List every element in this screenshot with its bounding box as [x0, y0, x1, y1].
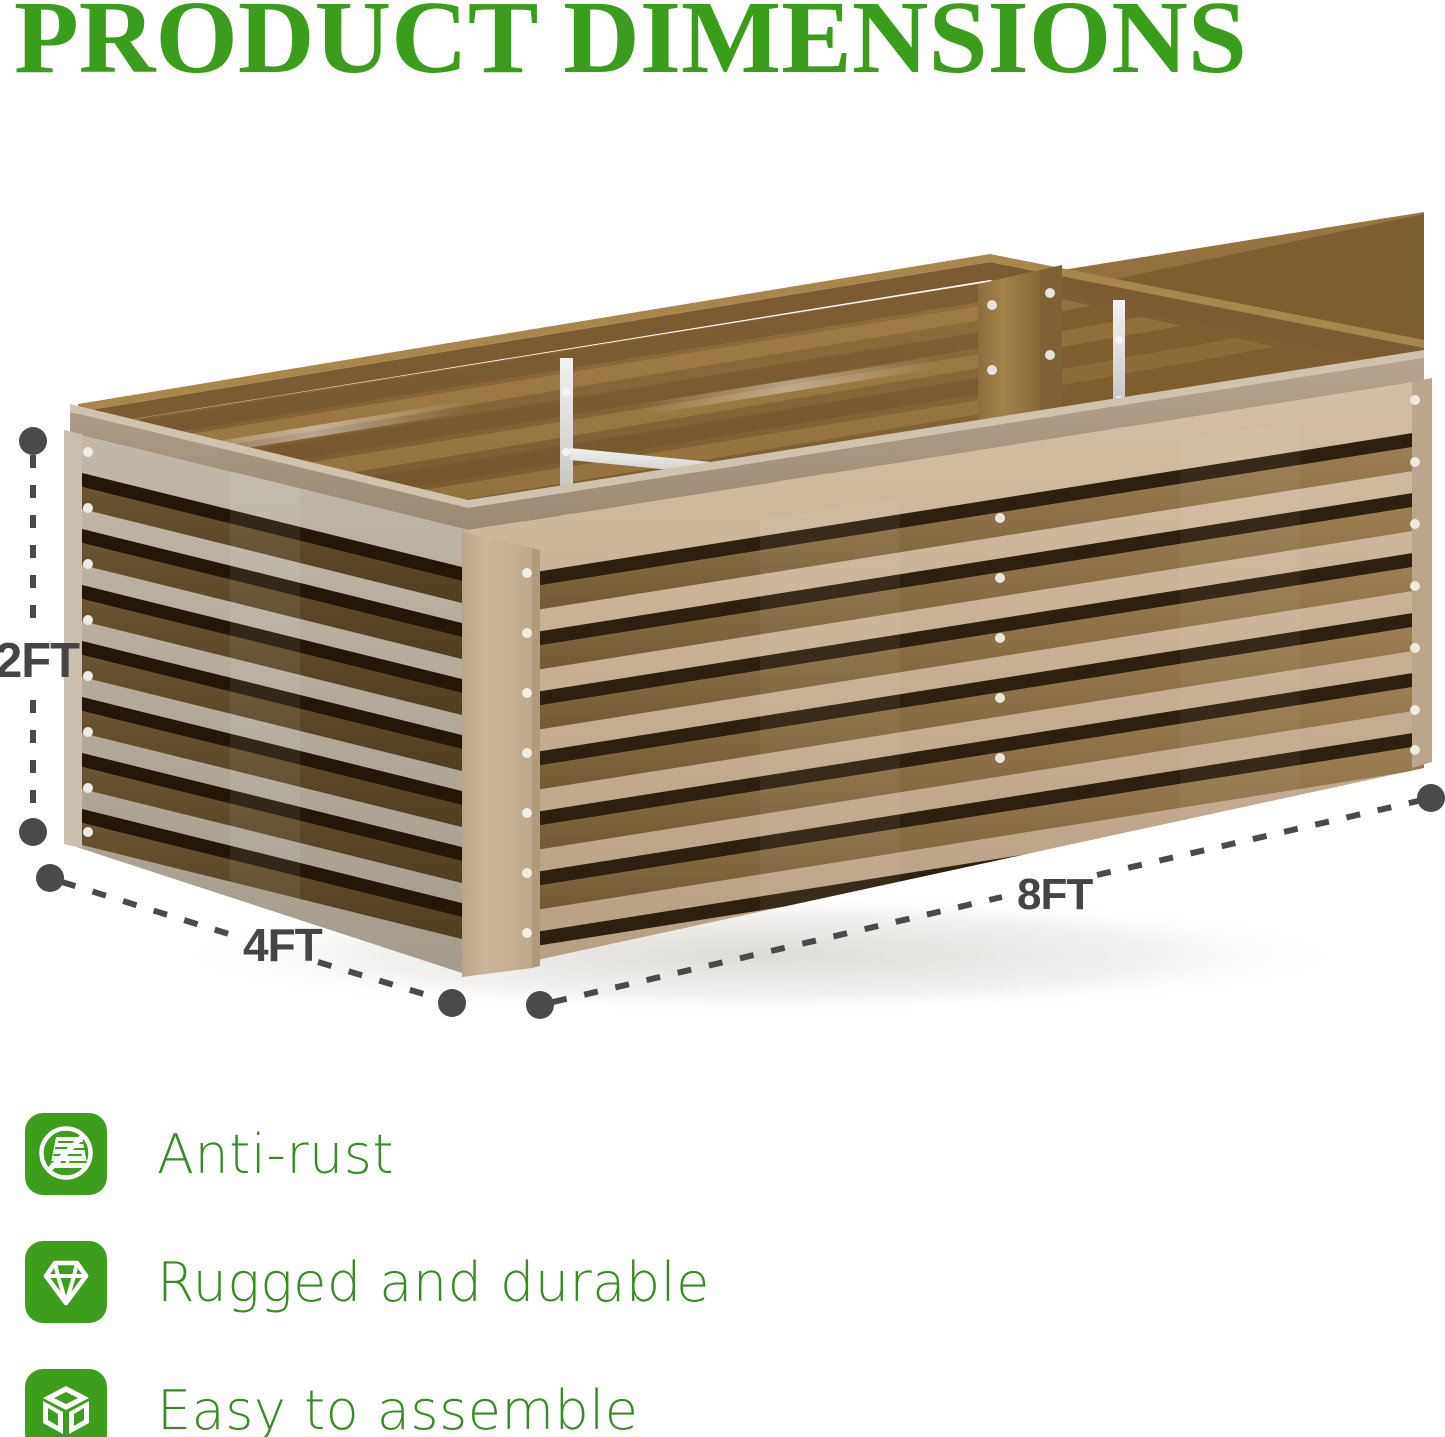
feature-label-anti-rust: Anti-rust — [157, 1123, 394, 1186]
cube-icon — [25, 1369, 107, 1437]
feature-list: Anti-rust Rugged and dur — [25, 1090, 925, 1437]
feature-item-anti-rust: Anti-rust — [25, 1090, 925, 1218]
dimension-label-height: 2FT — [0, 633, 79, 689]
diamond-icon — [25, 1241, 107, 1323]
corner-post-front-left — [462, 532, 540, 977]
product-illustration — [0, 0, 1445, 1060]
feature-label-assemble: Easy to assemble — [157, 1379, 639, 1437]
feature-item-rugged: Rugged and durable — [25, 1218, 925, 1346]
no-rust-icon — [25, 1113, 107, 1195]
corner-post-right — [1410, 378, 1432, 768]
feature-label-rugged: Rugged and durable — [157, 1251, 710, 1314]
dimension-label-length: 8FT — [1017, 870, 1092, 920]
feature-item-assemble: Easy to assemble — [25, 1346, 925, 1437]
dimension-label-width: 4FT — [243, 918, 322, 972]
product-dimensions-infographic: PRODUCT DIMENSIONS — [0, 0, 1445, 1437]
